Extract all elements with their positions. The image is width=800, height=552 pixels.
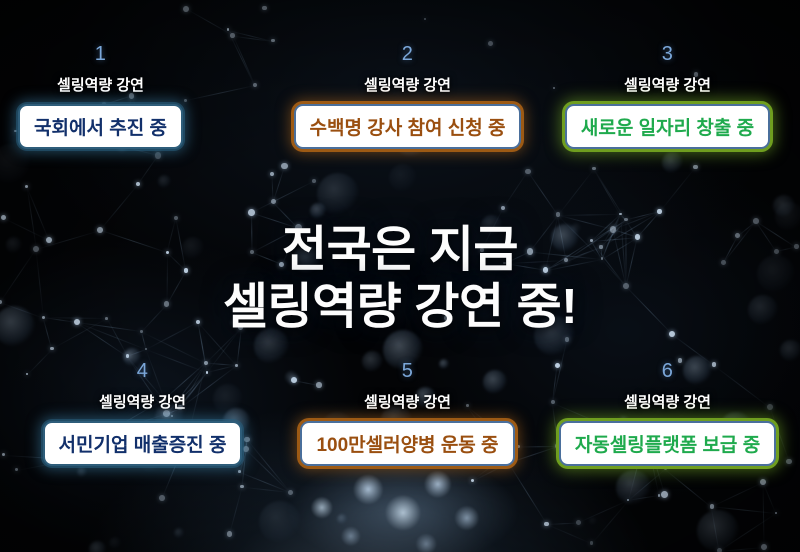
- card-2-status-badge[interactable]: 수백명 강사 참여 신청 중: [294, 104, 522, 149]
- promotional-banner: 전국은 지금 셀링역량 강연 중! 1 셀링역량 강연 국회에서 추진 중 2 …: [0, 0, 800, 552]
- card-4-status-badge[interactable]: 서민기업 매출증진 중: [43, 421, 243, 466]
- card-3-status-badge[interactable]: 새로운 일자리 창출 중: [565, 104, 770, 149]
- card-1-label: 셀링역량 강연: [8, 78, 193, 93]
- card-4-number: 4: [16, 361, 269, 381]
- card-6: 6 셀링역량 강연 자동셀링플랫폼 보급 중: [545, 361, 790, 466]
- card-2: 2 셀링역량 강연 수백명 강사 참여 신청 중: [280, 44, 535, 149]
- card-5-status-badge[interactable]: 100만셀러양병 운동 중: [300, 421, 514, 466]
- card-4-label: 셀링역량 강연: [16, 395, 269, 410]
- card-1-status-badge[interactable]: 국회에서 추진 중: [18, 104, 183, 149]
- card-6-number: 6: [545, 361, 790, 381]
- card-5-number: 5: [280, 361, 535, 381]
- card-2-number: 2: [280, 44, 535, 64]
- card-6-label: 셀링역량 강연: [545, 395, 790, 410]
- card-4: 4 셀링역량 강연 서민기업 매출증진 중: [16, 361, 269, 466]
- card-3: 3 셀링역량 강연 새로운 일자리 창출 중: [545, 44, 790, 149]
- card-3-number: 3: [545, 44, 790, 64]
- card-2-label: 셀링역량 강연: [280, 78, 535, 93]
- card-3-label: 셀링역량 강연: [545, 78, 790, 93]
- headline-line-1: 전국은 지금: [282, 223, 518, 277]
- card-1: 1 셀링역량 강연 국회에서 추진 중: [8, 44, 193, 149]
- card-5: 5 셀링역량 강연 100만셀러양병 운동 중: [280, 361, 535, 466]
- headline-line-2: 셀링역량 강연 중!: [0, 279, 800, 336]
- card-5-label: 셀링역량 강연: [280, 395, 535, 410]
- card-1-number: 1: [8, 44, 193, 64]
- card-6-status-badge[interactable]: 자동셀링플랫폼 보급 중: [559, 421, 776, 466]
- page-title: 전국은 지금 셀링역량 강연 중!: [0, 222, 800, 336]
